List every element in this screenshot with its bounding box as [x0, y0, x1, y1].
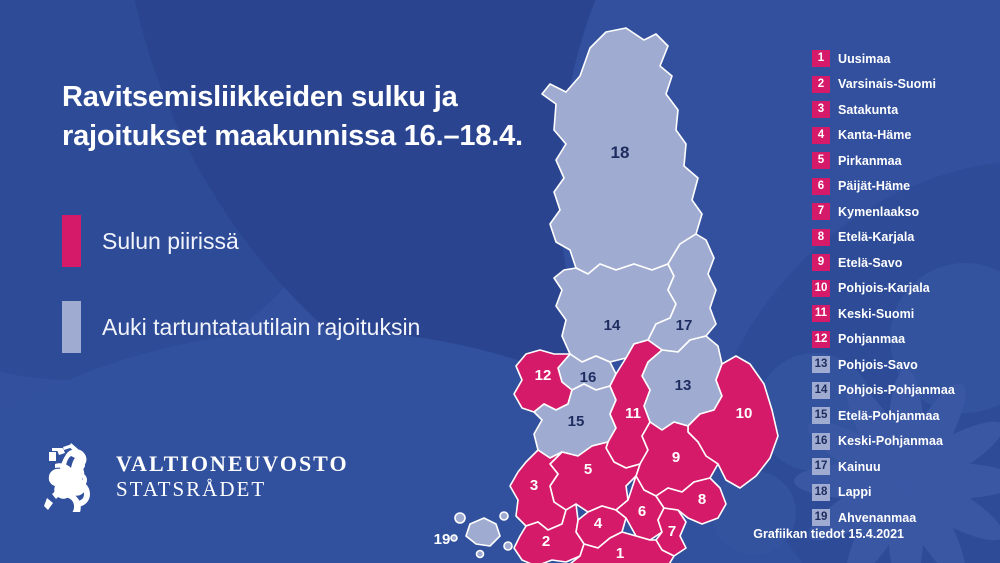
map-label-17: 17 — [676, 317, 693, 334]
map-label-4: 4 — [594, 515, 603, 532]
region-list-item[interactable]: 10Pohjois-Karjala — [812, 276, 955, 302]
map-label-15: 15 — [568, 413, 585, 430]
region-list-item[interactable]: 2Varsinais-Suomi — [812, 72, 955, 98]
region-badge-3: 3 — [812, 101, 830, 118]
map-label-19: 19 — [434, 531, 451, 548]
map-label-8: 8 — [698, 491, 706, 508]
region-name-16: Keski-Pohjanmaa — [838, 434, 943, 448]
region-list-item[interactable]: 1Uusimaa — [812, 46, 955, 72]
region-badge-5: 5 — [812, 152, 830, 169]
region-badge-19: 19 — [812, 509, 830, 526]
region-list-item[interactable]: 16Keski-Pohjanmaa — [812, 429, 955, 455]
region-list-item[interactable]: 18Lappi — [812, 480, 955, 506]
valtioneuvosto-logo: VALTIONEUVOSTO STATSRÅDET — [38, 440, 349, 512]
finland-region-map: 18 14 17 16 12 13 15 11 10 9 5 3 4 6 7 8… — [430, 18, 850, 563]
finland-map-svg: 18 14 17 16 12 13 15 11 10 9 5 3 4 6 7 8… — [430, 18, 850, 563]
legend-item-closed: Sulun piirissä — [62, 215, 420, 267]
logo-name-sv: STATSRÅDET — [116, 477, 349, 501]
region-badge-12: 12 — [812, 331, 830, 348]
region-badge-4: 4 — [812, 127, 830, 144]
region-name-17: Kainuu — [838, 460, 881, 474]
graphic-date: Grafiikan tiedot 15.4.2021 — [753, 527, 904, 541]
logo-name-fi: VALTIONEUVOSTO — [116, 451, 349, 477]
map-label-7: 7 — [668, 523, 676, 540]
region-name-8: Etelä-Karjala — [838, 230, 914, 244]
region-name-15: Etelä-Pohjanmaa — [838, 409, 939, 423]
finnish-lion-coat-of-arms-icon — [38, 440, 100, 512]
region-name-12: Pohjanmaa — [838, 332, 905, 346]
map-region-19[interactable] — [451, 512, 512, 558]
region-badge-10: 10 — [812, 280, 830, 297]
region-legend-list: 1Uusimaa2Varsinais-Suomi3Satakunta4Kanta… — [812, 46, 955, 531]
map-label-11: 11 — [625, 405, 641, 422]
region-list-item[interactable]: 8Etelä-Karjala — [812, 225, 955, 251]
region-badge-1: 1 — [812, 50, 830, 67]
region-badge-16: 16 — [812, 433, 830, 450]
legend: Sulun piirissä Auki tartuntatautilain ra… — [62, 215, 420, 387]
map-label-3: 3 — [530, 477, 538, 494]
region-badge-13: 13 — [812, 356, 830, 373]
region-badge-2: 2 — [812, 76, 830, 93]
map-label-16: 16 — [580, 369, 597, 386]
region-name-19: Ahvenanmaa — [838, 511, 916, 525]
region-name-9: Etelä-Savo — [838, 256, 902, 270]
region-list-item[interactable]: 4Kanta-Häme — [812, 123, 955, 149]
infographic-root: Ravitsemisliikkeiden sulku ja rajoitukse… — [0, 0, 1000, 563]
region-badge-11: 11 — [812, 305, 830, 322]
map-label-14: 14 — [604, 317, 621, 334]
map-label-13: 13 — [675, 377, 692, 394]
legend-label-open: Auki tartuntatautilain rajoituksin — [102, 314, 420, 341]
region-name-6: Päijät-Häme — [838, 179, 910, 193]
region-badge-18: 18 — [812, 484, 830, 501]
legend-swatch-closed — [62, 215, 81, 267]
map-label-2: 2 — [542, 533, 550, 550]
region-name-1: Uusimaa — [838, 52, 890, 66]
region-badge-17: 17 — [812, 458, 830, 475]
region-list-item[interactable]: 15Etelä-Pohjanmaa — [812, 403, 955, 429]
map-label-1: 1 — [616, 545, 624, 562]
region-badge-15: 15 — [812, 407, 830, 424]
region-badge-9: 9 — [812, 254, 830, 271]
region-name-10: Pohjois-Karjala — [838, 281, 930, 295]
region-name-11: Keski-Suomi — [838, 307, 914, 321]
map-label-5: 5 — [584, 461, 592, 478]
region-name-2: Varsinais-Suomi — [838, 77, 936, 91]
region-list-item[interactable]: 12Pohjanmaa — [812, 327, 955, 353]
region-list-item[interactable]: 14Pohjois-Pohjanmaa — [812, 378, 955, 404]
region-list-item[interactable]: 6Päijät-Häme — [812, 174, 955, 200]
legend-item-open: Auki tartuntatautilain rajoituksin — [62, 301, 420, 353]
region-list-item[interactable]: 3Satakunta — [812, 97, 955, 123]
map-label-9: 9 — [672, 449, 680, 466]
logo-text: VALTIONEUVOSTO STATSRÅDET — [116, 451, 349, 501]
region-name-5: Pirkanmaa — [838, 154, 902, 168]
region-list-item[interactable]: 9Etelä-Savo — [812, 250, 955, 276]
map-label-12: 12 — [535, 367, 552, 384]
region-badge-8: 8 — [812, 229, 830, 246]
legend-label-closed: Sulun piirissä — [102, 228, 239, 255]
region-name-14: Pohjois-Pohjanmaa — [838, 383, 955, 397]
map-label-18: 18 — [611, 143, 630, 162]
region-name-13: Pohjois-Savo — [838, 358, 918, 372]
region-list-item[interactable]: 13Pohjois-Savo — [812, 352, 955, 378]
region-list-item[interactable]: 7Kymenlaakso — [812, 199, 955, 225]
map-label-6: 6 — [638, 503, 646, 520]
region-name-3: Satakunta — [838, 103, 898, 117]
region-badge-6: 6 — [812, 178, 830, 195]
legend-swatch-open — [62, 301, 81, 353]
region-badge-7: 7 — [812, 203, 830, 220]
region-name-18: Lappi — [838, 485, 872, 499]
region-name-4: Kanta-Häme — [838, 128, 911, 142]
map-label-10: 10 — [736, 405, 753, 422]
region-list-item[interactable]: 5Pirkanmaa — [812, 148, 955, 174]
region-list-item[interactable]: 11Keski-Suomi — [812, 301, 955, 327]
region-badge-14: 14 — [812, 382, 830, 399]
region-name-7: Kymenlaakso — [838, 205, 919, 219]
region-list-item[interactable]: 17Kainuu — [812, 454, 955, 480]
